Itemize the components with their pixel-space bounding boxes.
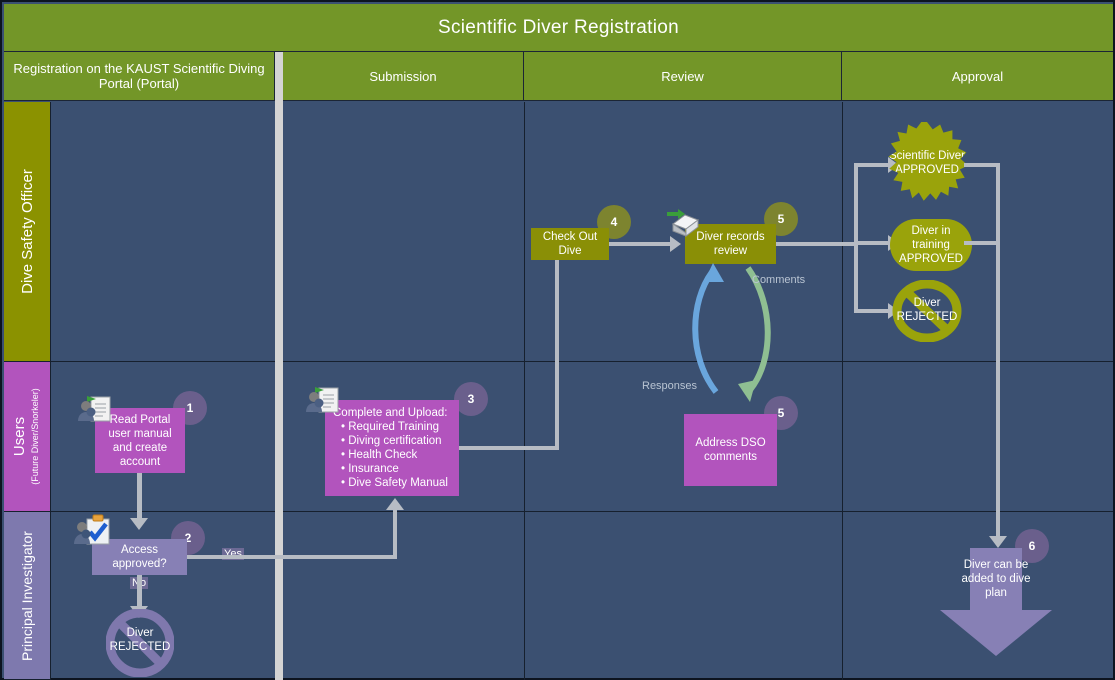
node-diver-in-training-approved[interactable]: Diver in training APPROVED xyxy=(890,219,972,271)
node-label: Check Out Dive xyxy=(533,230,607,258)
node-title: Complete and Upload: xyxy=(333,406,453,420)
badge-3: 3 xyxy=(454,382,488,416)
arrowhead-4-to-5 xyxy=(670,236,681,252)
upload-item-2: • Health Check xyxy=(333,448,453,462)
node-complete-and-upload[interactable]: Complete and Upload: • Required Training… xyxy=(325,400,459,496)
lane-label-text: Dive Safety Officer xyxy=(19,169,36,294)
phase-gutter xyxy=(275,52,283,680)
upload-item-4: • Dive Safety Manual xyxy=(333,476,453,490)
upload-item-0: • Required Training xyxy=(333,420,453,434)
lane-label-text: Principal Investigator xyxy=(19,531,35,661)
connector-1-to-2 xyxy=(137,473,142,521)
connector-3-to-4-v xyxy=(555,256,559,448)
connector-training-out xyxy=(964,241,1000,245)
phase-header-approval: Approval xyxy=(842,52,1113,101)
node-check-out-dive[interactable]: Check Out Dive xyxy=(531,228,609,260)
phase-header-review: Review xyxy=(524,52,842,101)
lane-label-principal-investigator: Principal Investigator xyxy=(4,512,51,680)
user-clipboard-check-icon xyxy=(73,514,111,548)
arrowhead-down-to-6 xyxy=(989,536,1007,548)
connector-to-approved xyxy=(854,163,892,167)
connector-4-to-5 xyxy=(609,242,674,246)
lane-label-dive-safety-officer: Dive Safety Officer xyxy=(4,102,51,362)
diagram-canvas: Scientific Diver Registration Registrati… xyxy=(0,0,1115,680)
upload-item-3: • Insurance xyxy=(333,462,453,476)
arrowhead-yes xyxy=(386,498,404,510)
column-separator-review xyxy=(524,102,525,680)
phase-header-submission: Submission xyxy=(283,52,524,101)
edge-label-comments: Comments xyxy=(752,274,805,286)
connector-yes-v xyxy=(393,510,397,559)
node-diver-can-be-added-label: Diver can be added to dive plan xyxy=(946,558,1046,614)
archive-box-icon xyxy=(665,208,699,238)
node-label: Diver can be added to dive plan xyxy=(946,558,1046,600)
node-label: Diver in training APPROVED xyxy=(894,224,968,266)
node-diver-rejected-pi-label: Diver REJECTED xyxy=(106,624,174,662)
node-address-dso-comments[interactable]: Address DSO comments xyxy=(684,414,777,486)
lane-body-users xyxy=(51,362,1113,512)
page-title: Scientific Diver Registration xyxy=(4,4,1113,52)
connector-3-to-4-h xyxy=(459,446,559,450)
edge-label-responses: Responses xyxy=(642,380,697,392)
node-diver-rejected-dso-label: Diver REJECTED xyxy=(886,302,968,318)
connector-to-training xyxy=(854,241,892,245)
node-label: Scientific Diver APPROVED xyxy=(886,149,968,177)
connector-yes-h xyxy=(187,555,397,559)
lane-sublabel-text: (Future Diver/Snorkeler) xyxy=(28,388,43,485)
user-document-icon xyxy=(77,394,113,426)
node-label: Diver records review xyxy=(688,230,773,258)
column-separator-approval xyxy=(842,102,843,680)
lane-label-users: Users (Future Diver/Snorkeler) xyxy=(4,362,51,512)
connector-review-to-approval xyxy=(776,242,856,246)
arrowhead-1-to-2 xyxy=(130,518,148,530)
user-document-icon xyxy=(305,385,341,417)
upload-item-1: • Diving certification xyxy=(333,434,453,448)
lane-label-text: Users xyxy=(11,417,28,456)
connector-no-v xyxy=(137,575,142,609)
connector-approved-out xyxy=(964,163,1000,167)
connector-approval-trunk xyxy=(854,165,858,313)
node-label: Address DSO comments xyxy=(689,436,772,464)
phase-header-registration: Registration on the KAUST Scientific Div… xyxy=(4,52,275,101)
connector-down-to-6 xyxy=(996,163,1000,540)
